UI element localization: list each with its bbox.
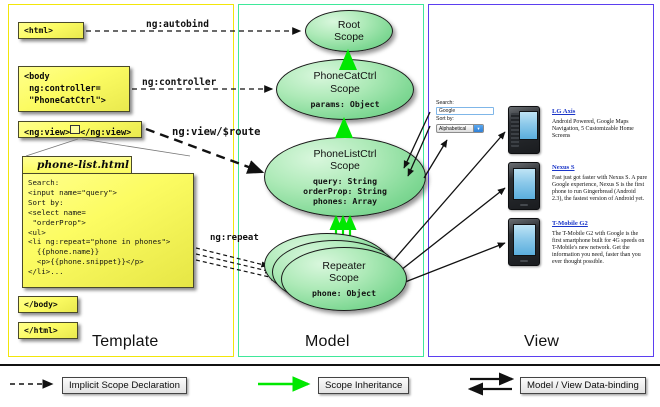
column-label-model: Model <box>305 333 350 351</box>
phone-snippet: Fast just got faster with Nexus S. A pur… <box>552 175 648 204</box>
phone-home-button <box>520 260 528 263</box>
legend-item-data-binding: Model / View Data-binding <box>520 377 646 394</box>
card-filename: phone-list.html <box>23 157 131 171</box>
sort-select[interactable]: Alphabetical ▾ <box>436 124 484 133</box>
card-filename-tab: phone-list.html <box>22 156 132 174</box>
scope-repeater: Repeater Scope phone: Object <box>281 247 407 311</box>
scope-repeater-label: Repeater Scope <box>322 260 365 285</box>
scope-phonelistctrl-props: query: String orderProp: String phones: … <box>303 176 387 206</box>
phone-thumbnail-tmobile-g2 <box>508 218 540 266</box>
arrow-label-autobind: ng:autobind <box>146 19 209 30</box>
arrow-label-route: ng:view/$route <box>172 126 261 138</box>
legend-item-scope-inheritance: Scope Inheritance <box>318 377 409 394</box>
scope-phonecatctrl: PhoneCatCtrl Scope params: Object <box>276 59 414 120</box>
sort-select-value: Alphabetical <box>439 126 466 132</box>
scope-root: Root Scope <box>305 10 393 52</box>
card-code: Search: <input name="query"> Sort by: <s… <box>22 173 194 288</box>
column-label-view: View <box>524 333 559 351</box>
scope-repeater-props: phone: Object <box>312 288 376 298</box>
phone-screen <box>513 168 536 200</box>
view-search-form: Search: Google Sort by: Alphabetical ▾ <box>436 100 498 133</box>
tag-body-open: <body ng:controller= "PhoneCatCtrl"> <box>18 66 130 112</box>
legend-item-implicit-scope: Implicit Scope Declaration <box>62 377 187 394</box>
tag-body-close: </body> <box>18 296 78 313</box>
phone-home-button <box>520 204 528 207</box>
phone-keyboard <box>511 113 519 147</box>
phone-thumbnail-lg-axis <box>508 106 540 154</box>
scope-phonecatctrl-label: PhoneCatCtrl Scope <box>313 70 376 95</box>
scope-phonelistctrl-label: PhoneListCtrl Scope <box>313 148 376 173</box>
scope-root-label: Root Scope <box>334 19 364 44</box>
phone-screen <box>513 224 536 256</box>
phone-snippet: Android Powered, Google Maps Navigation,… <box>552 119 648 141</box>
chevron-down-icon: ▾ <box>473 125 483 132</box>
ngview-slot-icon <box>70 125 80 134</box>
legend: Implicit Scope Declaration Scope Inherit… <box>0 364 660 407</box>
tag-html-close: </html> <box>18 322 78 339</box>
ngview-open-label: <ng:view> <box>24 128 70 138</box>
scope-phonelistctrl: PhoneListCtrl Scope query: String orderP… <box>264 137 426 217</box>
column-label-template: Template <box>92 333 159 351</box>
phone-list-template-card: phone-list.html Search: <input name="que… <box>22 156 194 288</box>
arrow-label-repeat: ng:repeat <box>210 233 259 243</box>
phone-snippet: The T-Mobile G2 with Google is the first… <box>552 231 648 267</box>
search-label: Search: <box>436 100 498 107</box>
phone-name-link[interactable]: T-Mobile G2 <box>552 220 648 228</box>
phone-name-link[interactable]: LG Axis <box>552 108 648 116</box>
phone-screen <box>519 111 538 140</box>
phone-thumbnail-nexus-s <box>508 162 540 210</box>
sort-label: Sort by: <box>436 116 498 123</box>
ngview-close-label: </ng:view> <box>80 128 131 138</box>
tag-html-open: <html> <box>18 22 84 39</box>
scope-phonecatctrl-props: params: Object <box>310 99 379 109</box>
tag-ngview: <ng:view></ng:view> <box>18 121 142 138</box>
arrow-label-controller: ng:controller <box>142 77 216 88</box>
phone-name-link[interactable]: Nexus S <box>552 164 648 172</box>
diagram-canvas: <html> <body ng:controller= "PhoneCatCtr… <box>0 0 660 405</box>
search-input[interactable]: Google <box>436 107 494 115</box>
